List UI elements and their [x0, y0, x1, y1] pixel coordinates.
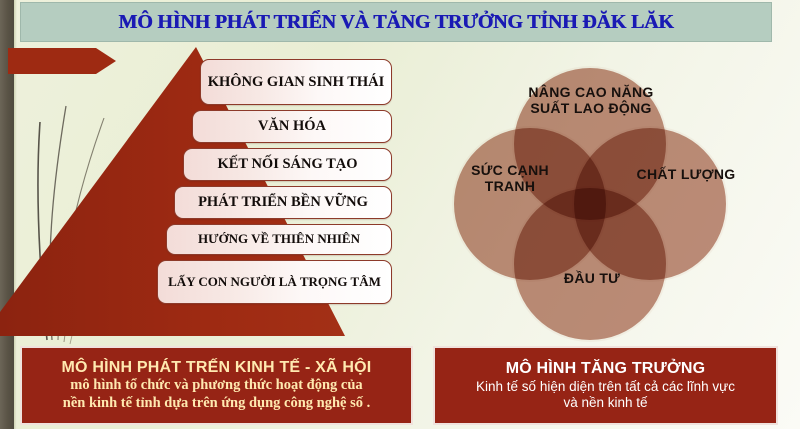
panel-right-body: Kinh tế số hiện diện trên tất cả các lĩn… [476, 379, 735, 411]
panel-right-body-line2: và nền kinh tế [476, 395, 735, 411]
pyramid-level-3[interactable]: PHÁT TRIỂN BỀN VỮNG [174, 186, 392, 219]
panel-right-body-line1: Kinh tế số hiện diện trên tất cả các lĩn… [476, 379, 735, 395]
pyramid-level-1-label: VĂN HÓA [258, 118, 326, 134]
panel-right-heading: MÔ HÌNH TĂNG TRƯỞNG [506, 360, 706, 378]
panel-left-body-line2: nền kinh tế tỉnh dựa trên ứng dụng công … [63, 395, 370, 413]
venn-label-left: SỨC CẠNH TRANH [462, 162, 558, 194]
pyramid-level-4[interactable]: HƯỚNG VỀ THIÊN NHIÊN [166, 224, 392, 255]
panel-growth-model[interactable]: MÔ HÌNH TĂNG TRƯỞNG Kinh tế số hiện diện… [433, 346, 778, 425]
panel-left-body: mô hình tổ chức và phương thức hoạt động… [63, 377, 370, 412]
panel-socio-economic-model[interactable]: MÔ HÌNH PHÁT TRẾN KINH TẾ - XÃ HỘI mô hì… [20, 346, 413, 425]
pyramid-level-2-label: KẾT NỐI SÁNG TẠO [217, 156, 357, 172]
pyramid-level-3-label: PHÁT TRIỂN BỀN VỮNG [198, 194, 368, 210]
slide-title-band: MÔ HÌNH PHÁT TRIỂN VÀ TĂNG TRƯỞNG TỈNH Đ… [20, 2, 772, 42]
pyramid-level-2[interactable]: KẾT NỐI SÁNG TẠO [183, 148, 392, 181]
pyramid-level-4-label: HƯỚNG VỀ THIÊN NHIÊN [198, 232, 360, 247]
pyramid-level-5-label: LẤY CON NGƯỜI LÀ TRỌNG TÂM [168, 275, 381, 290]
pyramid-level-0-label: KHÔNG GIAN SINH THÁI [208, 74, 385, 90]
venn-label-right: CHẤT LƯỢNG [636, 166, 736, 182]
venn-label-bottom: ĐẦU TƯ [532, 270, 652, 286]
venn-label-top: NÂNG CAO NĂNG SUẤT LAO ĐỘNG [520, 84, 662, 116]
growth-venn-diagram: NÂNG CAO NĂNG SUẤT LAO ĐỘNG CHẤT LƯỢNG Đ… [440, 58, 760, 338]
venn-circle-left[interactable] [452, 126, 608, 282]
pyramid-level-0[interactable]: KHÔNG GIAN SINH THÁI [200, 59, 392, 105]
slide-canvas: KHÔNG GIAN SINH THÁI VĂN HÓA KẾT NỐI SÁN… [0, 0, 800, 429]
pyramid-level-1[interactable]: VĂN HÓA [192, 110, 392, 143]
page-title: MÔ HÌNH PHÁT TRIỂN VÀ TĂNG TRƯỞNG TỈNH Đ… [118, 11, 673, 34]
pyramid-level-5[interactable]: LẤY CON NGƯỜI LÀ TRỌNG TÂM [157, 260, 392, 304]
panel-left-heading: MÔ HÌNH PHÁT TRẾN KINH TẾ - XÃ HỘI [62, 359, 372, 377]
panel-left-body-line1: mô hình tổ chức và phương thức hoạt động… [63, 377, 370, 395]
